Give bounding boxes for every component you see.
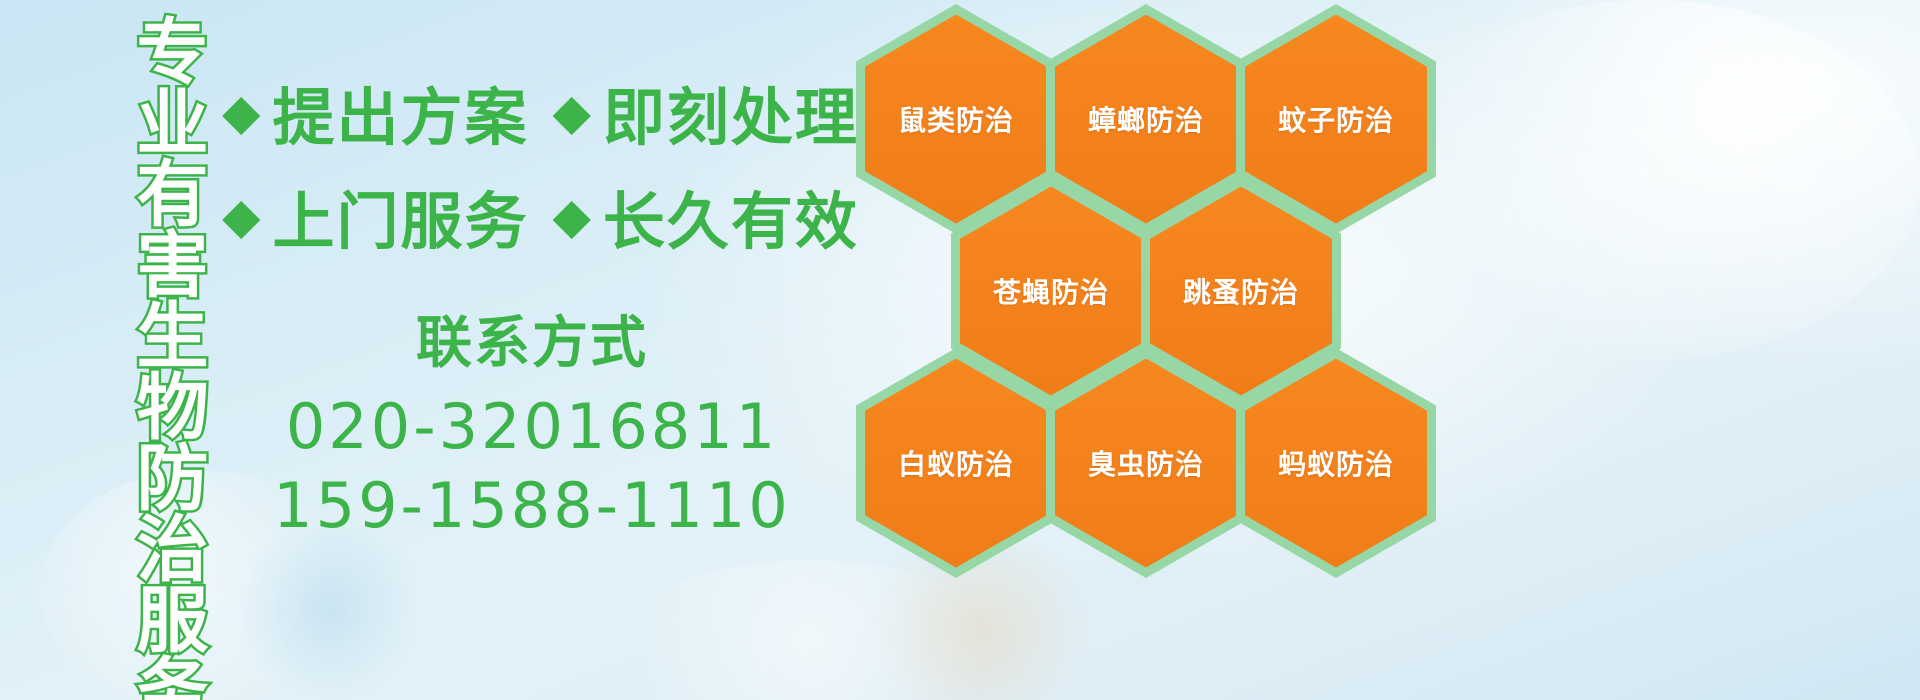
center-content-column: ◆ 提出方案 ◆ 即刻处理 ◆ 上门服务 ◆ 长久有效 联系方式 020-320… [222, 60, 882, 660]
service-label: 蚂蚁防治 [1278, 443, 1394, 483]
contact-block: 联系方式 020-32016811 159-1588-1110 [222, 298, 842, 546]
diamond-icon: ◆ [552, 191, 592, 241]
service-label: 蚊子防治 [1278, 99, 1394, 139]
phone-mobile[interactable]: 159-1588-1110 [222, 466, 842, 545]
service-label: 跳蚤防治 [1183, 271, 1299, 311]
feature-row-2: ◆ 上门服务 ◆ 长久有效 [222, 164, 882, 268]
feature-label-immediate-handling: 即刻处理 [603, 67, 859, 157]
feature-label-onsite-service: 上门服务 [272, 171, 528, 261]
service-label: 白蚁防治 [898, 443, 1014, 483]
feature-row-1: ◆ 提出方案 ◆ 即刻处理 [222, 60, 882, 164]
service-label: 蟑螂防治 [1088, 99, 1204, 139]
feature-label-propose-plan: 提出方案 [272, 67, 528, 157]
hex-inner: 蚂蚁防治 [1245, 359, 1427, 568]
pest-control-banner: 专业有害生物防治服务 ◆ 提出方案 ◆ 即刻处理 ◆ 上门服务 ◆ 长久有效 联… [0, 0, 1920, 700]
service-label: 臭虫防治 [1088, 443, 1204, 483]
service-honeycomb: 鼠类防治 蟑螂防治 蚊子防治 苍蝇防治 跳蚤防治 白蚁防治 [856, 0, 1476, 554]
phone-landline[interactable]: 020-32016811 [222, 387, 842, 466]
hex-inner: 蚊子防治 [1245, 15, 1427, 224]
hex-inner: 鼠类防治 [865, 15, 1047, 224]
hex-inner: 臭虫防治 [1055, 359, 1237, 568]
diamond-icon: ◆ [222, 87, 262, 137]
service-label: 鼠类防治 [898, 99, 1014, 139]
diamond-icon: ◆ [552, 87, 592, 137]
diamond-icon: ◆ [222, 191, 262, 241]
hex-inner: 苍蝇防治 [960, 187, 1142, 396]
feature-label-long-lasting: 长久有效 [603, 171, 859, 261]
hex-inner: 跳蚤防治 [1150, 187, 1332, 396]
service-label: 苍蝇防治 [993, 271, 1109, 311]
hex-inner: 蟑螂防治 [1055, 15, 1237, 224]
contact-title: 联系方式 [222, 298, 842, 379]
vertical-headline: 专业有害生物防治服务 [104, 14, 200, 700]
hex-inner: 白蚁防治 [865, 359, 1047, 568]
